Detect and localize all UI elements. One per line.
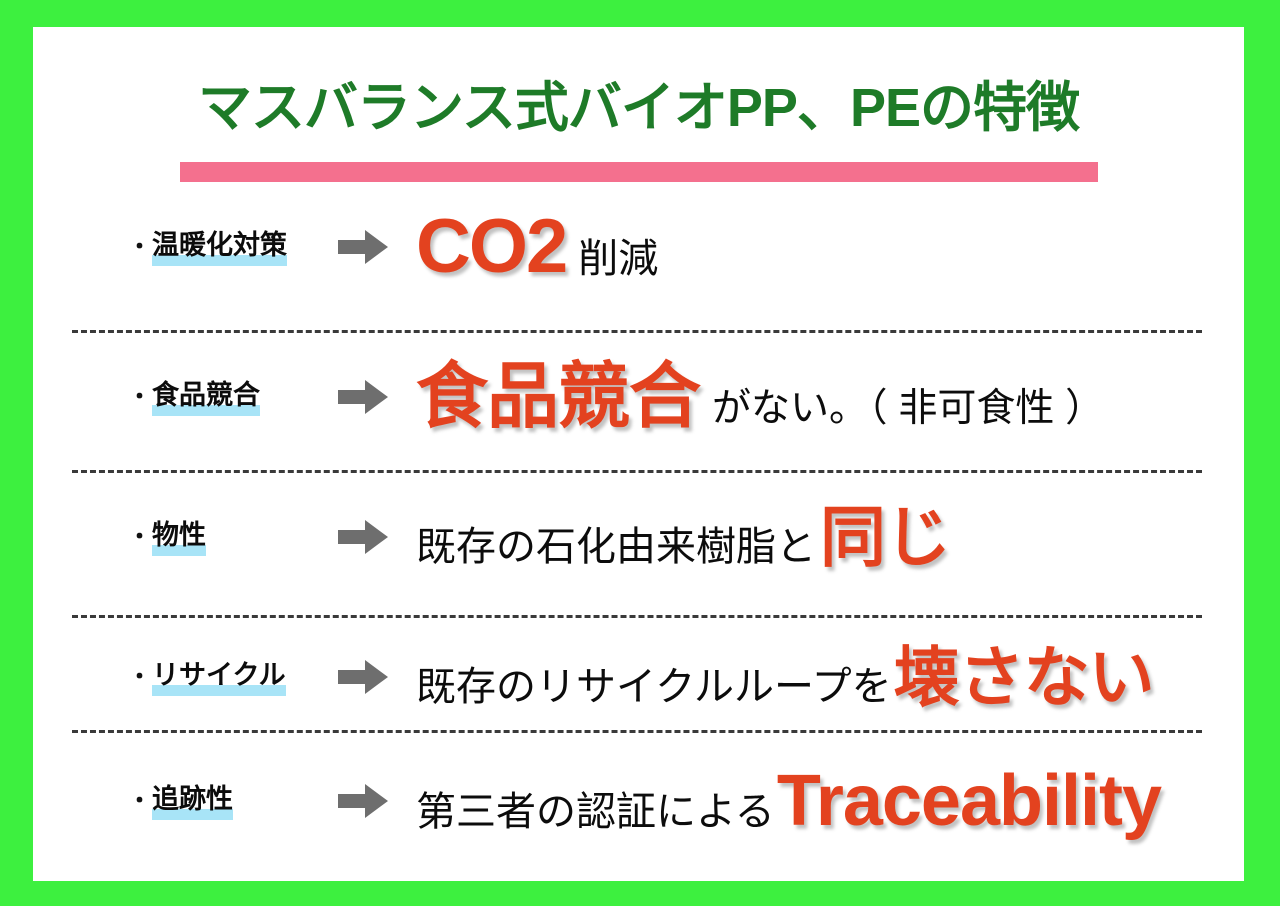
feature-label-text: 物性: [152, 520, 206, 550]
feature-label-wrap: ・ 追跡性: [128, 785, 328, 817]
feature-content: 既存の石化由来樹脂と 同じ: [416, 504, 1244, 570]
feature-emphasis: 壊さない: [894, 644, 1154, 710]
right-arrow-icon: [338, 380, 394, 414]
feature-label-text: 温暖化対策: [152, 230, 287, 260]
right-arrow-icon: [338, 520, 394, 554]
bullet-icon: ・: [128, 385, 151, 408]
feature-label-text: 食品競合: [152, 380, 260, 410]
feature-row-food: ・ 食品競合 食品競合 がない。（ 非可食性 ）: [33, 345, 1244, 449]
feature-emphasis: 同じ: [820, 504, 950, 570]
feature-label-wrap: ・ 温暖化対策: [128, 231, 328, 263]
feature-label-wrap: ・ 物性: [128, 521, 328, 553]
title-highlight-band: [180, 162, 1098, 182]
feature-content: CO2 削減: [416, 209, 1244, 285]
right-arrow-icon: [338, 784, 394, 818]
slide-white-panel: マスバランス式バイオPP、PEの特徴 ・ 温暖化対策 CO2 削減: [33, 27, 1244, 881]
row-divider: [72, 470, 1202, 473]
row-divider: [72, 330, 1202, 333]
feature-content: 第三者の認証による Traceability: [416, 765, 1244, 837]
feature-label-text: リサイクル: [152, 660, 286, 690]
bullet-icon: ・: [128, 235, 151, 258]
bullet-icon: ・: [128, 665, 151, 688]
feature-content: 既存のリサイクルループを 壊さない: [416, 644, 1244, 710]
bullet-icon: ・: [128, 789, 151, 812]
row-divider: [72, 615, 1202, 618]
feature-emphasis: Traceability: [777, 765, 1161, 837]
bullet-icon: ・: [128, 525, 151, 548]
feature-emphasis: 食品競合: [416, 361, 700, 433]
feature-lead: 第三者の認証による: [416, 792, 775, 832]
feature-row-recycle: ・ リサイクル 既存のリサイクルループを 壊さない: [33, 625, 1244, 729]
row-divider: [72, 730, 1202, 733]
feature-label: 温暖化対策: [152, 231, 287, 263]
feature-content: 食品競合 がない。（ 非可食性 ）: [416, 361, 1244, 433]
slide-canvas: マスバランス式バイオPP、PEの特徴 ・ 温暖化対策 CO2 削減: [0, 0, 1280, 906]
right-arrow-icon: [338, 660, 394, 694]
right-arrow-icon: [338, 230, 394, 264]
feature-lead: 既存のリサイクルループを: [416, 667, 892, 707]
feature-label: 物性: [152, 521, 206, 553]
page-title: マスバランス式バイオPP、PEの特徴: [33, 81, 1244, 135]
feature-lead: 既存の石化由来樹脂と: [416, 527, 816, 567]
feature-label: 食品競合: [152, 381, 260, 413]
feature-tail: がない。（ 非可食性 ）: [712, 389, 1104, 428]
feature-label-wrap: ・ リサイクル: [128, 661, 328, 693]
slide-title-block: マスバランス式バイオPP、PEの特徴: [33, 65, 1244, 175]
feature-emphasis: CO2: [416, 209, 566, 285]
feature-row-traceability: ・ 追跡性 第三者の認証による Traceability: [33, 749, 1244, 853]
feature-label: リサイクル: [152, 661, 286, 693]
feature-label-text: 追跡性: [152, 784, 233, 814]
feature-tail: 削減: [578, 239, 658, 279]
feature-label: 追跡性: [152, 785, 233, 817]
feature-row-warming: ・ 温暖化対策 CO2 削減: [33, 195, 1244, 299]
feature-row-properties: ・ 物性 既存の石化由来樹脂と 同じ: [33, 485, 1244, 589]
feature-label-wrap: ・ 食品競合: [128, 381, 328, 413]
